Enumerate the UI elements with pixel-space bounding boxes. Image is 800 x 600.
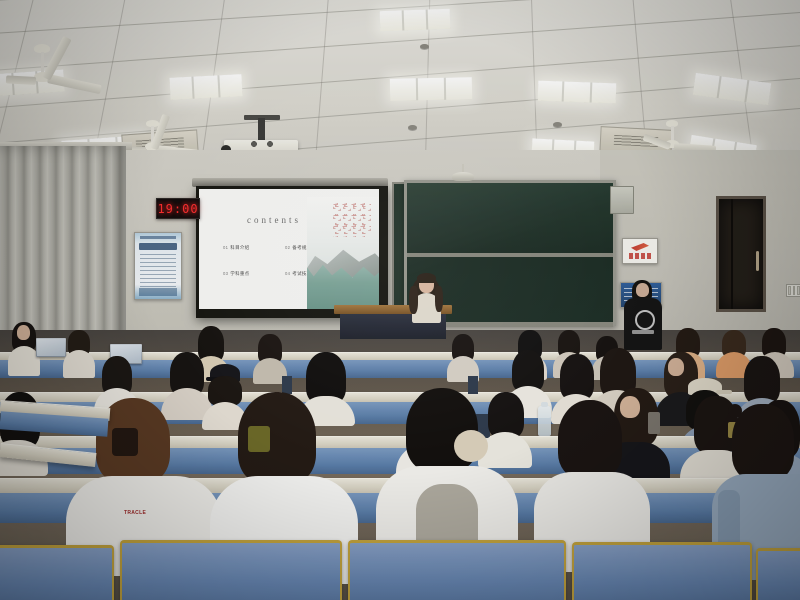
laptop [36, 338, 66, 357]
lecture-hall-photo: contents 01科目介绍 02备考规划 03学科重点 04考试技巧 19:… [0, 0, 800, 600]
hair-clip [648, 412, 660, 434]
slide-bullet-index: 01 [223, 245, 228, 250]
seat-gap [282, 376, 292, 394]
slide-bullet-index: 04 [285, 271, 290, 276]
slide-bullet-label: 学科重点 [230, 271, 249, 276]
tshirt-logo: TRACLE [124, 510, 146, 516]
slide-bullet-3: 03学科重点 [223, 271, 249, 277]
info-poster-blue [134, 232, 182, 300]
light-switch-panel[interactable] [786, 284, 800, 297]
slide-bullet-index: 02 [285, 245, 290, 250]
seat-back[interactable] [120, 540, 342, 600]
smoke-detector-icon [553, 122, 562, 127]
wall-control-box[interactable] [610, 186, 634, 214]
slide-bullet-1: 01科目介绍 [223, 245, 249, 251]
ceiling-light-panel [169, 74, 242, 100]
slide-surface: contents 01科目介绍 02备考规划 03学科重点 04考试技巧 [199, 189, 379, 309]
smoke-detector-icon [420, 44, 429, 49]
hair-clip [248, 426, 270, 452]
slide-bullet-label: 科目介绍 [230, 245, 249, 250]
seat-back[interactable] [0, 545, 114, 600]
seat-back[interactable] [756, 548, 800, 600]
ceiling-light-panel [693, 73, 771, 105]
slide-calligraphy-mark [331, 203, 371, 237]
framed-notice-small [622, 238, 658, 264]
slide-landscape-image [307, 197, 379, 309]
ceiling-light-panel [390, 77, 472, 100]
door-handle[interactable] [756, 251, 759, 271]
digital-wall-clock: 19:00 [156, 198, 200, 219]
slide-bullet-index: 03 [223, 271, 228, 276]
seat-back[interactable] [572, 542, 752, 600]
seat-gap [468, 376, 478, 394]
projection-screen[interactable]: contents 01科目介绍 02备考规划 03学科重点 04考试技巧 [196, 186, 388, 318]
clock-time: 19:00 [157, 202, 198, 216]
hair-bun [454, 430, 488, 462]
ceiling-light-panel [380, 9, 451, 31]
ceiling-light-panel [538, 81, 617, 104]
smoke-detector-icon [408, 125, 417, 130]
classroom-door[interactable] [716, 196, 766, 312]
red-arrow-icon [631, 243, 649, 251]
seat-back[interactable] [348, 540, 566, 600]
slide-title: contents [247, 215, 301, 225]
tshirt-graphic [635, 310, 655, 330]
water-bottle [538, 406, 551, 436]
hair-clip [112, 428, 138, 456]
